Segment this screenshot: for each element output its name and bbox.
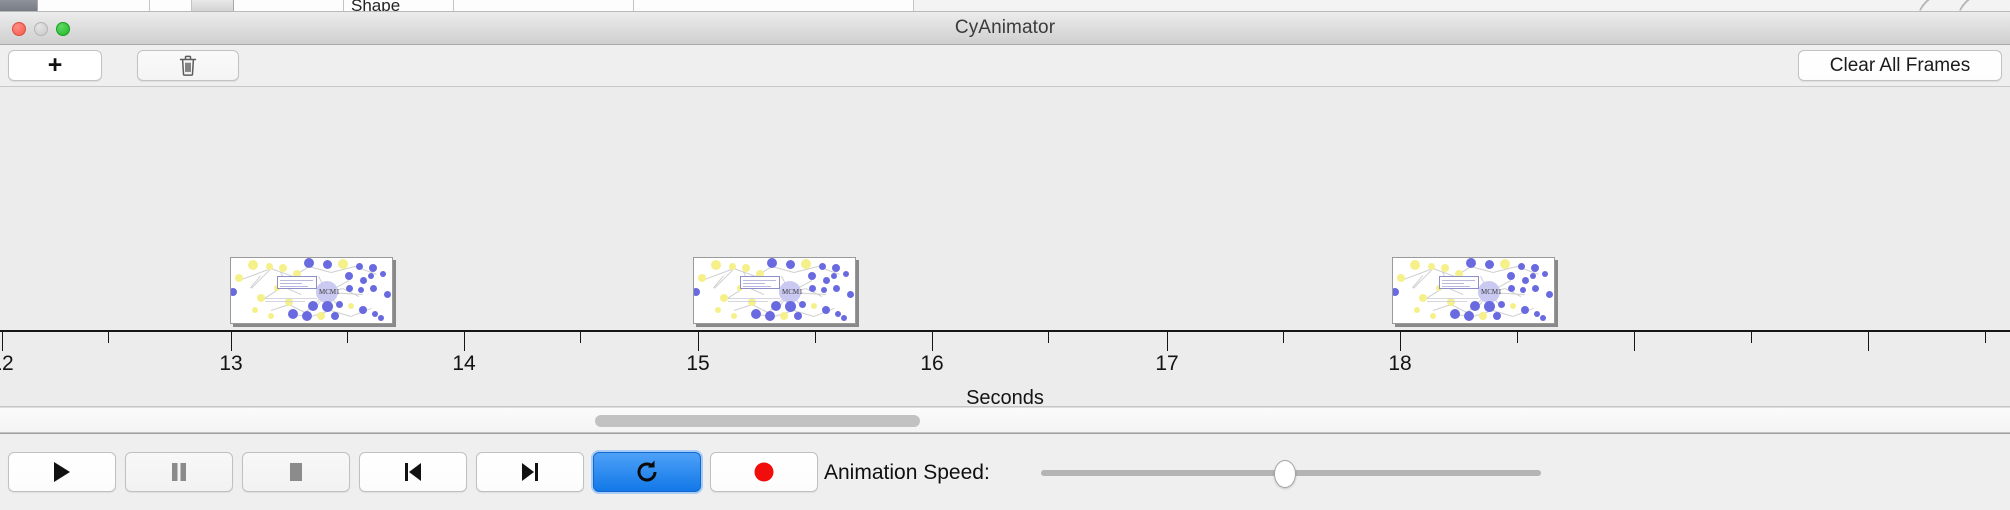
network-node	[819, 263, 826, 270]
network-node	[378, 315, 384, 321]
network-node	[821, 287, 827, 293]
network-node	[356, 263, 363, 270]
axis-tick	[698, 332, 699, 351]
network-node	[748, 298, 756, 306]
network-node	[360, 277, 367, 284]
axis-tick	[1517, 332, 1518, 343]
axis-tick	[580, 332, 581, 343]
network-node	[1414, 307, 1420, 313]
record-icon	[752, 460, 776, 484]
network-node	[1500, 259, 1510, 269]
skip-to-end-button[interactable]	[476, 452, 584, 492]
annotation-text-line	[1442, 286, 1470, 287]
network-node	[1521, 306, 1529, 314]
network-node	[1464, 311, 1474, 321]
network-node	[751, 309, 761, 319]
bg-window-chip	[0, 0, 38, 12]
axis-line	[0, 330, 2010, 332]
network-node	[767, 258, 777, 268]
network-node	[1419, 294, 1427, 302]
network-node	[370, 285, 377, 292]
network-node	[698, 274, 706, 282]
network-node	[266, 263, 273, 270]
network-node	[322, 301, 333, 312]
annotation-text-line	[1442, 283, 1464, 284]
network-node	[799, 301, 806, 308]
plus-icon: +	[48, 53, 63, 78]
network-node	[248, 260, 258, 270]
network-node	[1470, 301, 1480, 311]
toolbar: + Clear All Frames	[0, 45, 2010, 87]
network-node	[338, 259, 348, 269]
network-node	[1507, 272, 1515, 280]
network-node	[257, 294, 265, 302]
network-edge	[702, 268, 734, 281]
network-node	[786, 260, 795, 269]
network-node	[1540, 315, 1546, 321]
bg-window-chip	[454, 0, 634, 12]
axis-title: Seconds	[0, 387, 2010, 407]
axis-tick	[1634, 332, 1635, 351]
annotation-text-line	[743, 280, 776, 281]
network-micro-text	[1427, 301, 1467, 302]
playback-controls: Animation Speed:	[0, 433, 2010, 510]
network-node	[1430, 313, 1436, 319]
network-node	[1520, 287, 1526, 293]
axis-tick	[108, 332, 109, 343]
bg-window-chip	[38, 0, 150, 12]
network-micro-text	[265, 298, 317, 299]
network-node	[1392, 288, 1399, 296]
axis-tick-label: 16	[920, 352, 943, 376]
network-node	[847, 291, 854, 298]
network-node	[1479, 312, 1487, 320]
network-node	[308, 301, 318, 311]
skip-forward-icon	[518, 460, 542, 484]
network-node	[304, 258, 314, 268]
network-node	[801, 259, 811, 269]
network-node	[369, 264, 377, 272]
skip-back-icon	[401, 460, 425, 484]
network-node-label: MCM1	[319, 288, 340, 296]
pause-icon	[168, 460, 190, 484]
network-node	[345, 272, 353, 280]
record-button[interactable]	[710, 452, 818, 492]
window-title: CyAnimator	[0, 17, 2010, 39]
network-node	[1542, 271, 1548, 277]
axis-tick	[1868, 332, 1869, 351]
network-node	[317, 312, 325, 320]
network-node	[1450, 309, 1460, 319]
network-node	[1498, 301, 1505, 308]
network-node	[348, 303, 354, 309]
axis-tick	[1167, 332, 1168, 351]
network-node	[1534, 311, 1540, 317]
network-node	[252, 307, 258, 313]
network-node	[279, 264, 287, 272]
network-node	[384, 291, 391, 298]
network-node	[346, 285, 353, 292]
timeline-panel[interactable]: MCM1MCM1MCM1 12131415161718 Seconds	[0, 87, 2010, 407]
network-node	[831, 273, 837, 279]
network-node	[359, 306, 367, 314]
axis-tick	[1048, 332, 1049, 343]
timeline-keyframe[interactable]: MCM1	[230, 257, 393, 324]
network-edge	[1412, 275, 1423, 288]
axis-tick	[1985, 332, 1986, 343]
background-windows: Shape	[0, 0, 2010, 12]
network-node	[823, 277, 830, 284]
network-node	[693, 288, 700, 296]
network-node	[841, 315, 847, 321]
axis-tick	[815, 332, 816, 343]
network-node	[832, 264, 840, 272]
annotation-text-line	[280, 283, 302, 284]
axis-tick	[2, 332, 3, 351]
timeline-scrollbar[interactable]	[0, 407, 2010, 433]
network-node	[368, 273, 374, 279]
network-thumbnail: MCM1	[231, 258, 392, 323]
annotation-text-line	[743, 286, 771, 287]
network-micro-text	[1427, 298, 1479, 299]
network-node	[380, 271, 386, 277]
network-node	[1508, 285, 1515, 292]
stop-icon	[285, 460, 307, 484]
network-edge	[239, 268, 271, 281]
network-node	[1522, 277, 1529, 284]
network-node	[1397, 274, 1405, 282]
network-node	[780, 312, 788, 320]
annotation-text-line	[280, 280, 313, 281]
network-micro-text	[728, 301, 768, 302]
bg-window-chip	[634, 0, 914, 12]
axis-tick-label: 13	[219, 352, 242, 376]
network-node	[302, 311, 312, 321]
animation-speed-label: Animation Speed:	[824, 461, 990, 485]
network-micro-text	[265, 301, 305, 302]
delete-frame-button[interactable]	[137, 50, 239, 81]
annotation-text-line	[280, 286, 308, 287]
annotation-text-line	[743, 283, 765, 284]
network-edge	[1401, 268, 1433, 281]
add-frame-button[interactable]: +	[8, 50, 102, 81]
network-node	[711, 260, 721, 270]
axis-tick	[1400, 332, 1401, 351]
axis-tick	[1283, 332, 1284, 343]
loop-icon	[634, 459, 660, 485]
network-node	[1410, 260, 1420, 270]
keyframe-strip: MCM1MCM1MCM1	[0, 87, 2010, 307]
timeline-keyframe[interactable]: MCM1	[693, 257, 856, 324]
network-node	[1510, 303, 1516, 309]
network-node	[1466, 258, 1476, 268]
network-node	[715, 307, 721, 313]
animation-speed-slider-thumb[interactable]	[1274, 460, 1296, 488]
network-node-label: MCM1	[1481, 288, 1502, 296]
time-axis: 12131415161718	[0, 330, 2010, 331]
bg-arc-decoration	[1953, 0, 2003, 12]
network-thumbnail: MCM1	[694, 258, 855, 323]
network-node	[323, 260, 332, 269]
network-node	[729, 263, 736, 270]
trash-icon	[178, 54, 198, 77]
axis-tick-label: 17	[1155, 352, 1178, 376]
network-node	[1531, 264, 1539, 272]
network-node	[1428, 263, 1435, 270]
network-node	[285, 298, 293, 306]
clear-all-frames-button[interactable]: Clear All Frames	[1798, 50, 2002, 81]
skip-to-start-button[interactable]	[359, 452, 467, 492]
axis-tick	[231, 332, 232, 351]
axis-tick	[1751, 332, 1752, 343]
clear-all-frames-label: Clear All Frames	[1830, 55, 1970, 77]
network-node	[833, 285, 840, 292]
network-node	[811, 303, 817, 309]
network-node	[1485, 260, 1494, 269]
network-thumbnail: MCM1	[1393, 258, 1554, 323]
axis-tick-label: 12	[0, 352, 14, 376]
network-node	[794, 312, 802, 320]
network-node	[336, 301, 343, 308]
pause-button	[125, 452, 233, 492]
network-node	[1493, 312, 1501, 320]
network-node	[765, 311, 775, 321]
network-node	[1484, 301, 1495, 312]
network-micro-text	[728, 298, 780, 299]
network-node	[843, 271, 849, 277]
bg-window-chip	[150, 0, 192, 12]
network-node	[1518, 263, 1525, 270]
network-node	[372, 311, 378, 317]
network-node	[1447, 298, 1455, 306]
axis-tick	[347, 332, 348, 343]
network-node	[808, 272, 816, 280]
network-node	[822, 306, 830, 314]
title-bar[interactable]: CyAnimator	[0, 12, 2010, 45]
network-node	[268, 313, 274, 319]
bg-window-chip	[192, 0, 234, 12]
axis-tick	[932, 332, 933, 351]
network-node-label: MCM1	[782, 288, 803, 296]
stop-button	[242, 452, 350, 492]
network-edge	[250, 275, 261, 288]
axis-tick-label: 15	[686, 352, 709, 376]
bg-window-label: Shape	[351, 0, 400, 12]
bg-window-chip	[234, 0, 344, 12]
play-button[interactable]	[8, 452, 116, 492]
network-node	[742, 264, 750, 272]
network-node	[1530, 273, 1536, 279]
axis-tick-label: 14	[452, 352, 475, 376]
network-node	[835, 311, 841, 317]
loop-button[interactable]	[593, 452, 701, 492]
network-node	[1441, 264, 1449, 272]
network-node	[720, 294, 728, 302]
axis-tick-label: 18	[1388, 352, 1411, 376]
network-node	[235, 274, 243, 282]
network-node	[785, 301, 796, 312]
network-node	[230, 288, 237, 296]
network-node	[1532, 285, 1539, 292]
play-icon	[51, 460, 73, 484]
network-node	[809, 285, 816, 292]
network-node	[1546, 291, 1553, 298]
network-node	[288, 309, 298, 319]
timeline-keyframe[interactable]: MCM1	[1392, 257, 1555, 324]
network-edge	[713, 275, 724, 288]
network-node	[358, 287, 364, 293]
network-node	[731, 313, 737, 319]
network-node	[331, 312, 339, 320]
annotation-text-line	[1442, 280, 1475, 281]
axis-tick	[464, 332, 465, 351]
scrollbar-thumb[interactable]	[595, 415, 920, 427]
cyanimator-window: Shape CyAnimator + Clear All Frames	[0, 0, 2010, 510]
bg-arc-decoration	[1913, 0, 1963, 12]
network-node	[771, 301, 781, 311]
